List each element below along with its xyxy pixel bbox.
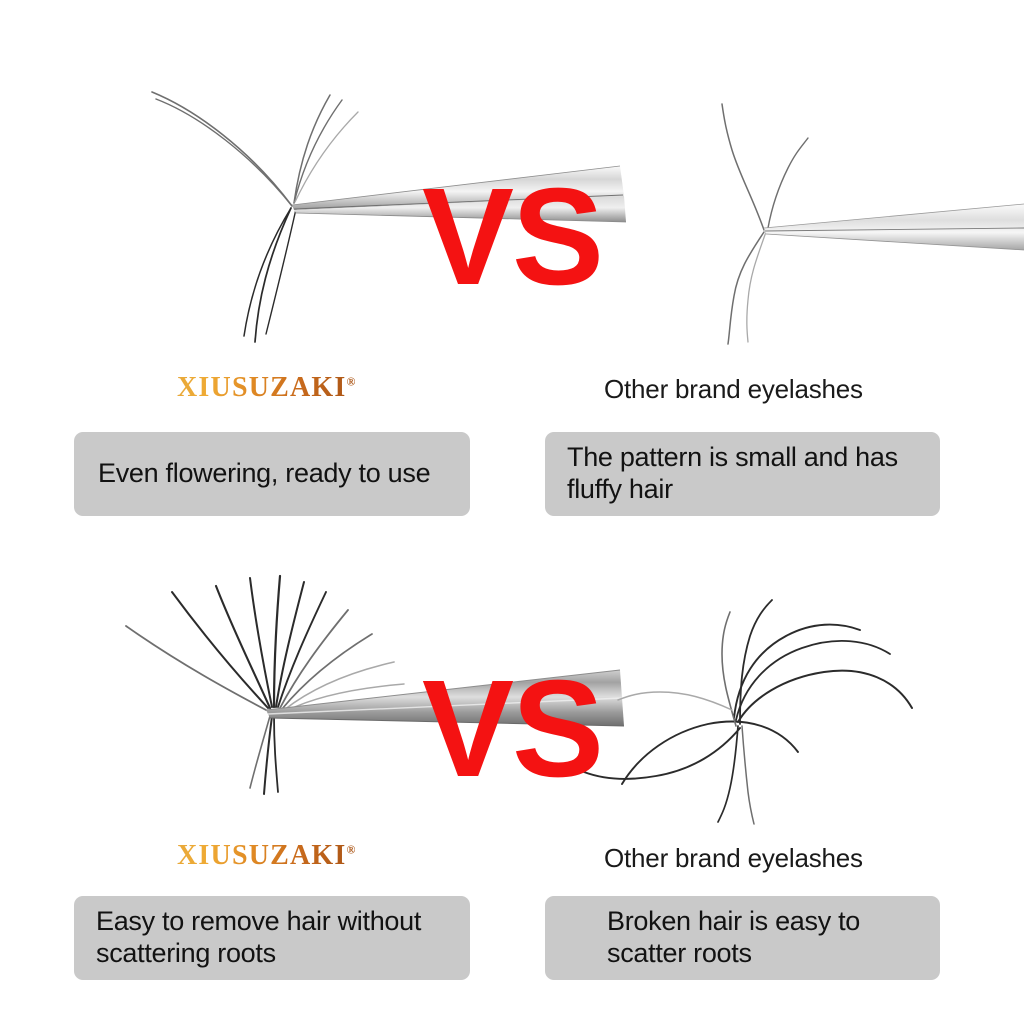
caption-text-other-bottom: Broken hair is easy to scatter roots	[607, 906, 860, 970]
registered-mark-top: ®	[347, 375, 356, 389]
comparison-block-bottom: VS XIUSUZAKI® Other brand eyelashes Easy…	[0, 512, 1024, 1024]
caption-box-premium-top: Even flowering, ready to use	[74, 432, 470, 516]
lash-fan-premium-top	[152, 92, 358, 342]
brand-heading-top: XIUSUZAKI®	[177, 372, 355, 404]
scattered-lashes-bottom	[584, 600, 912, 824]
caption-text-other-top: The pattern is small and has fluffy hair	[567, 442, 898, 506]
brand-heading-bottom: XIUSUZAKI®	[177, 840, 355, 872]
comparison-block-top: VS XIUSUZAKI® Other brand eyelashes Even…	[0, 0, 1024, 512]
other-brand-heading-bottom: Other brand eyelashes	[604, 843, 863, 874]
caption-box-premium-bottom: Easy to remove hair without scattering r…	[74, 896, 470, 980]
caption-text-premium-bottom: Easy to remove hair without scattering r…	[96, 906, 421, 970]
lash-fan-other-top	[722, 104, 808, 344]
registered-mark-bottom: ®	[347, 843, 356, 857]
tweezer-other-top	[764, 204, 1024, 250]
caption-box-other-bottom: Broken hair is easy to scatter roots	[545, 896, 940, 980]
vs-label-top: VS	[416, 168, 608, 306]
caption-text-premium-top: Even flowering, ready to use	[98, 458, 430, 490]
brand-name-bottom: XIUSUZAKI	[177, 840, 347, 871]
other-brand-heading-top: Other brand eyelashes	[604, 374, 863, 405]
lash-fan-premium-bottom	[126, 576, 404, 794]
brand-name-top: XIUSUZAKI	[177, 372, 347, 403]
infographic-page: VS XIUSUZAKI® Other brand eyelashes Even…	[0, 0, 1024, 1024]
caption-box-other-top: The pattern is small and has fluffy hair	[545, 432, 940, 516]
vs-label-bottom: VS	[416, 660, 608, 798]
